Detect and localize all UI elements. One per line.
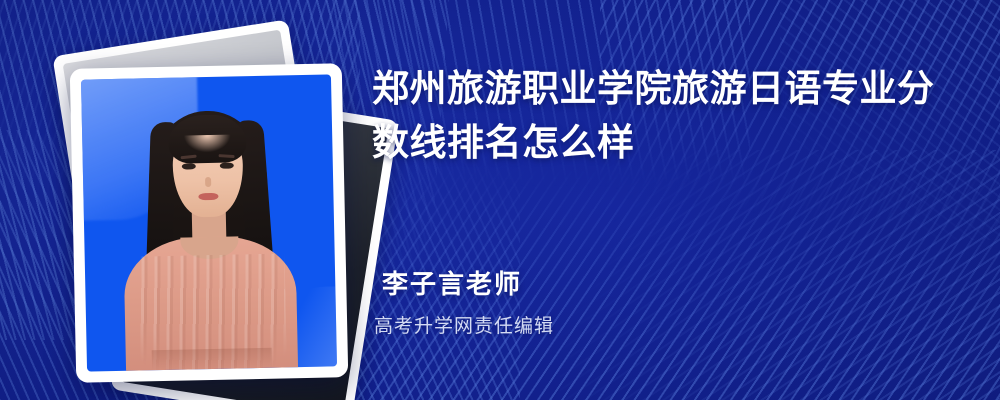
portrait-waistline (152, 348, 272, 371)
photo-card-stack (55, 30, 365, 360)
author-byline: 李子言老师 高考升学网责任编辑 (382, 268, 554, 338)
banner-title: 郑州旅游职业学院旅游日语专业分数线排名怎么样 (372, 62, 962, 169)
portrait-subject (81, 74, 337, 371)
portrait-eye-right (220, 162, 234, 168)
author-name: 李子言老师 (382, 268, 554, 301)
banner-text-column: 郑州旅游职业学院旅游日语专业分数线排名怎么样 李子言老师 高考升学网责任编辑 (372, 0, 972, 400)
editor-portrait-photo (81, 74, 337, 371)
portrait-eye-left (182, 163, 196, 169)
portrait-nose (205, 177, 211, 187)
article-cover-banner: 郑州旅游职业学院旅游日语专业分数线排名怎么样 李子言老师 高考升学网责任编辑 (0, 0, 1000, 400)
portrait-mouth (198, 193, 218, 200)
author-role: 高考升学网责任编辑 (374, 311, 554, 338)
photo-card-front (70, 63, 349, 383)
